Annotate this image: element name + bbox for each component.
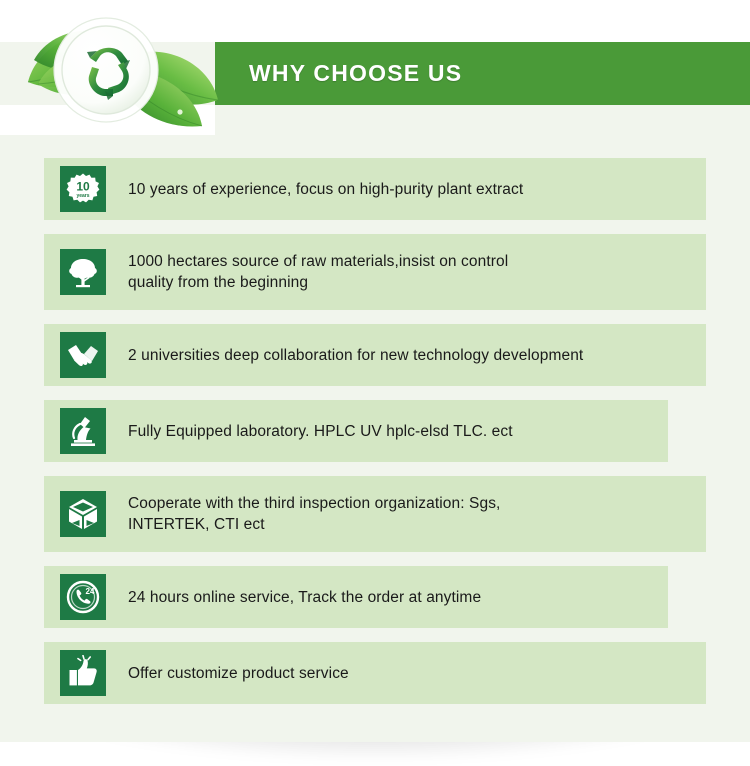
list-item[interactable]: 10 years 10 years of experience, focus o… — [44, 158, 706, 220]
list-item[interactable]: Offer customize product service — [44, 642, 706, 704]
ten-years-badge-icon: 10 years — [60, 166, 106, 212]
list-item-label: Cooperate with the third inspection orga… — [128, 493, 500, 535]
svg-text:10: 10 — [76, 180, 90, 194]
why-choose-us-page: WHY CHOOSE US — [0, 0, 750, 766]
list-item-label: Fully Equipped laboratory. HPLC UV hplc-… — [128, 421, 513, 442]
list-item-label: 1000 hectares source of raw materials,in… — [128, 251, 508, 293]
list-item[interactable]: 2 universities deep collaboration for ne… — [44, 324, 706, 386]
list-item-label: Offer customize product service — [128, 663, 349, 684]
tree-icon — [60, 249, 106, 295]
list-item[interactable]: 24 24 hours online service, Track the or… — [44, 566, 668, 628]
circle-emblem — [54, 18, 158, 122]
svg-text:24: 24 — [86, 587, 95, 596]
thumbs-up-icon — [60, 650, 106, 696]
green-leaf-recycle-logo — [12, 8, 227, 133]
24-hour-phone-clock-icon: 24 — [60, 574, 106, 620]
list-item[interactable]: 1000 hectares source of raw materials,in… — [44, 234, 706, 310]
list-item-label: 10 years of experience, focus on high-pu… — [128, 179, 523, 200]
page-title: WHY CHOOSE US — [249, 60, 462, 87]
handshake-icon — [60, 332, 106, 378]
svg-text:years: years — [76, 193, 89, 199]
feature-list: 10 years 10 years of experience, focus o… — [44, 158, 706, 704]
list-item[interactable]: Fully Equipped laboratory. HPLC UV hplc-… — [44, 400, 668, 462]
cube-box-icon — [60, 491, 106, 537]
list-item-label: 24 hours online service, Track the order… — [128, 587, 481, 608]
list-item-label: 2 universities deep collaboration for ne… — [128, 345, 583, 366]
microscope-icon — [60, 408, 106, 454]
list-item[interactable]: Cooperate with the third inspection orga… — [44, 476, 706, 552]
